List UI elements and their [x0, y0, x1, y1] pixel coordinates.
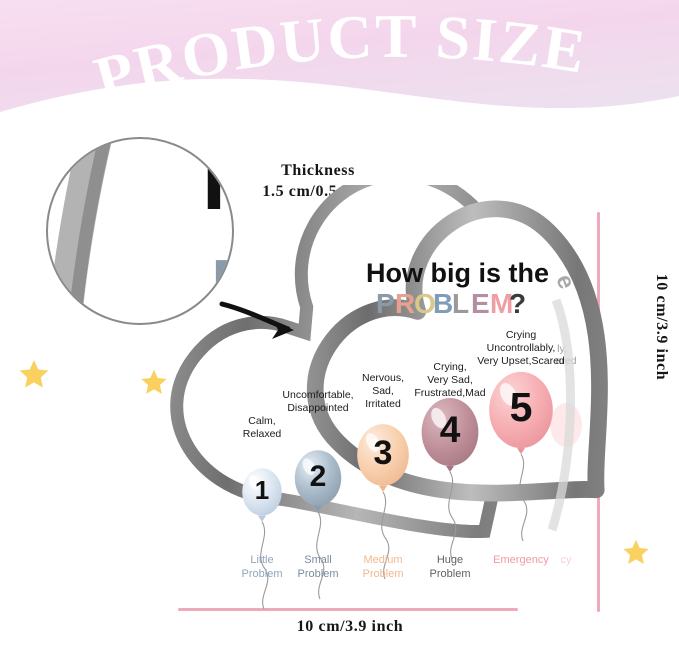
width-measure-rule	[178, 608, 518, 611]
header-banner: PRODUCT SIZE	[0, 0, 679, 150]
product-size-infographic: PRODUCT SIZE 10 cm/3.9 inch 10 cm/3.9 in…	[0, 0, 679, 647]
magnifier-zoom-view: How big is the PROBLEM Uncomfortable, Di…	[46, 137, 234, 325]
magnifier-circle: How big is the PROBLEM Uncomfortable, Di…	[46, 137, 234, 325]
pointer-arrow-icon	[216, 296, 306, 346]
thickness-measure-title: Thickness	[228, 160, 408, 181]
star-icon-shape	[623, 540, 648, 564]
height-measure-label: 10 cm/3.9 inch	[652, 232, 670, 422]
star-icon	[622, 538, 650, 566]
star-icon	[18, 358, 50, 390]
magnifier-content: How big is the PROBLEM Uncomfortable, Di…	[46, 137, 234, 325]
width-measure-label: 10 cm/3.9 inch	[180, 618, 520, 636]
height-measure-rule	[597, 212, 600, 612]
magnifier-title-line1: How big is the	[202, 137, 234, 228]
star-icon-shape	[20, 360, 49, 388]
star-icon-shape	[141, 370, 166, 394]
header-wave-divider	[0, 0, 679, 150]
star-icon	[140, 368, 168, 396]
